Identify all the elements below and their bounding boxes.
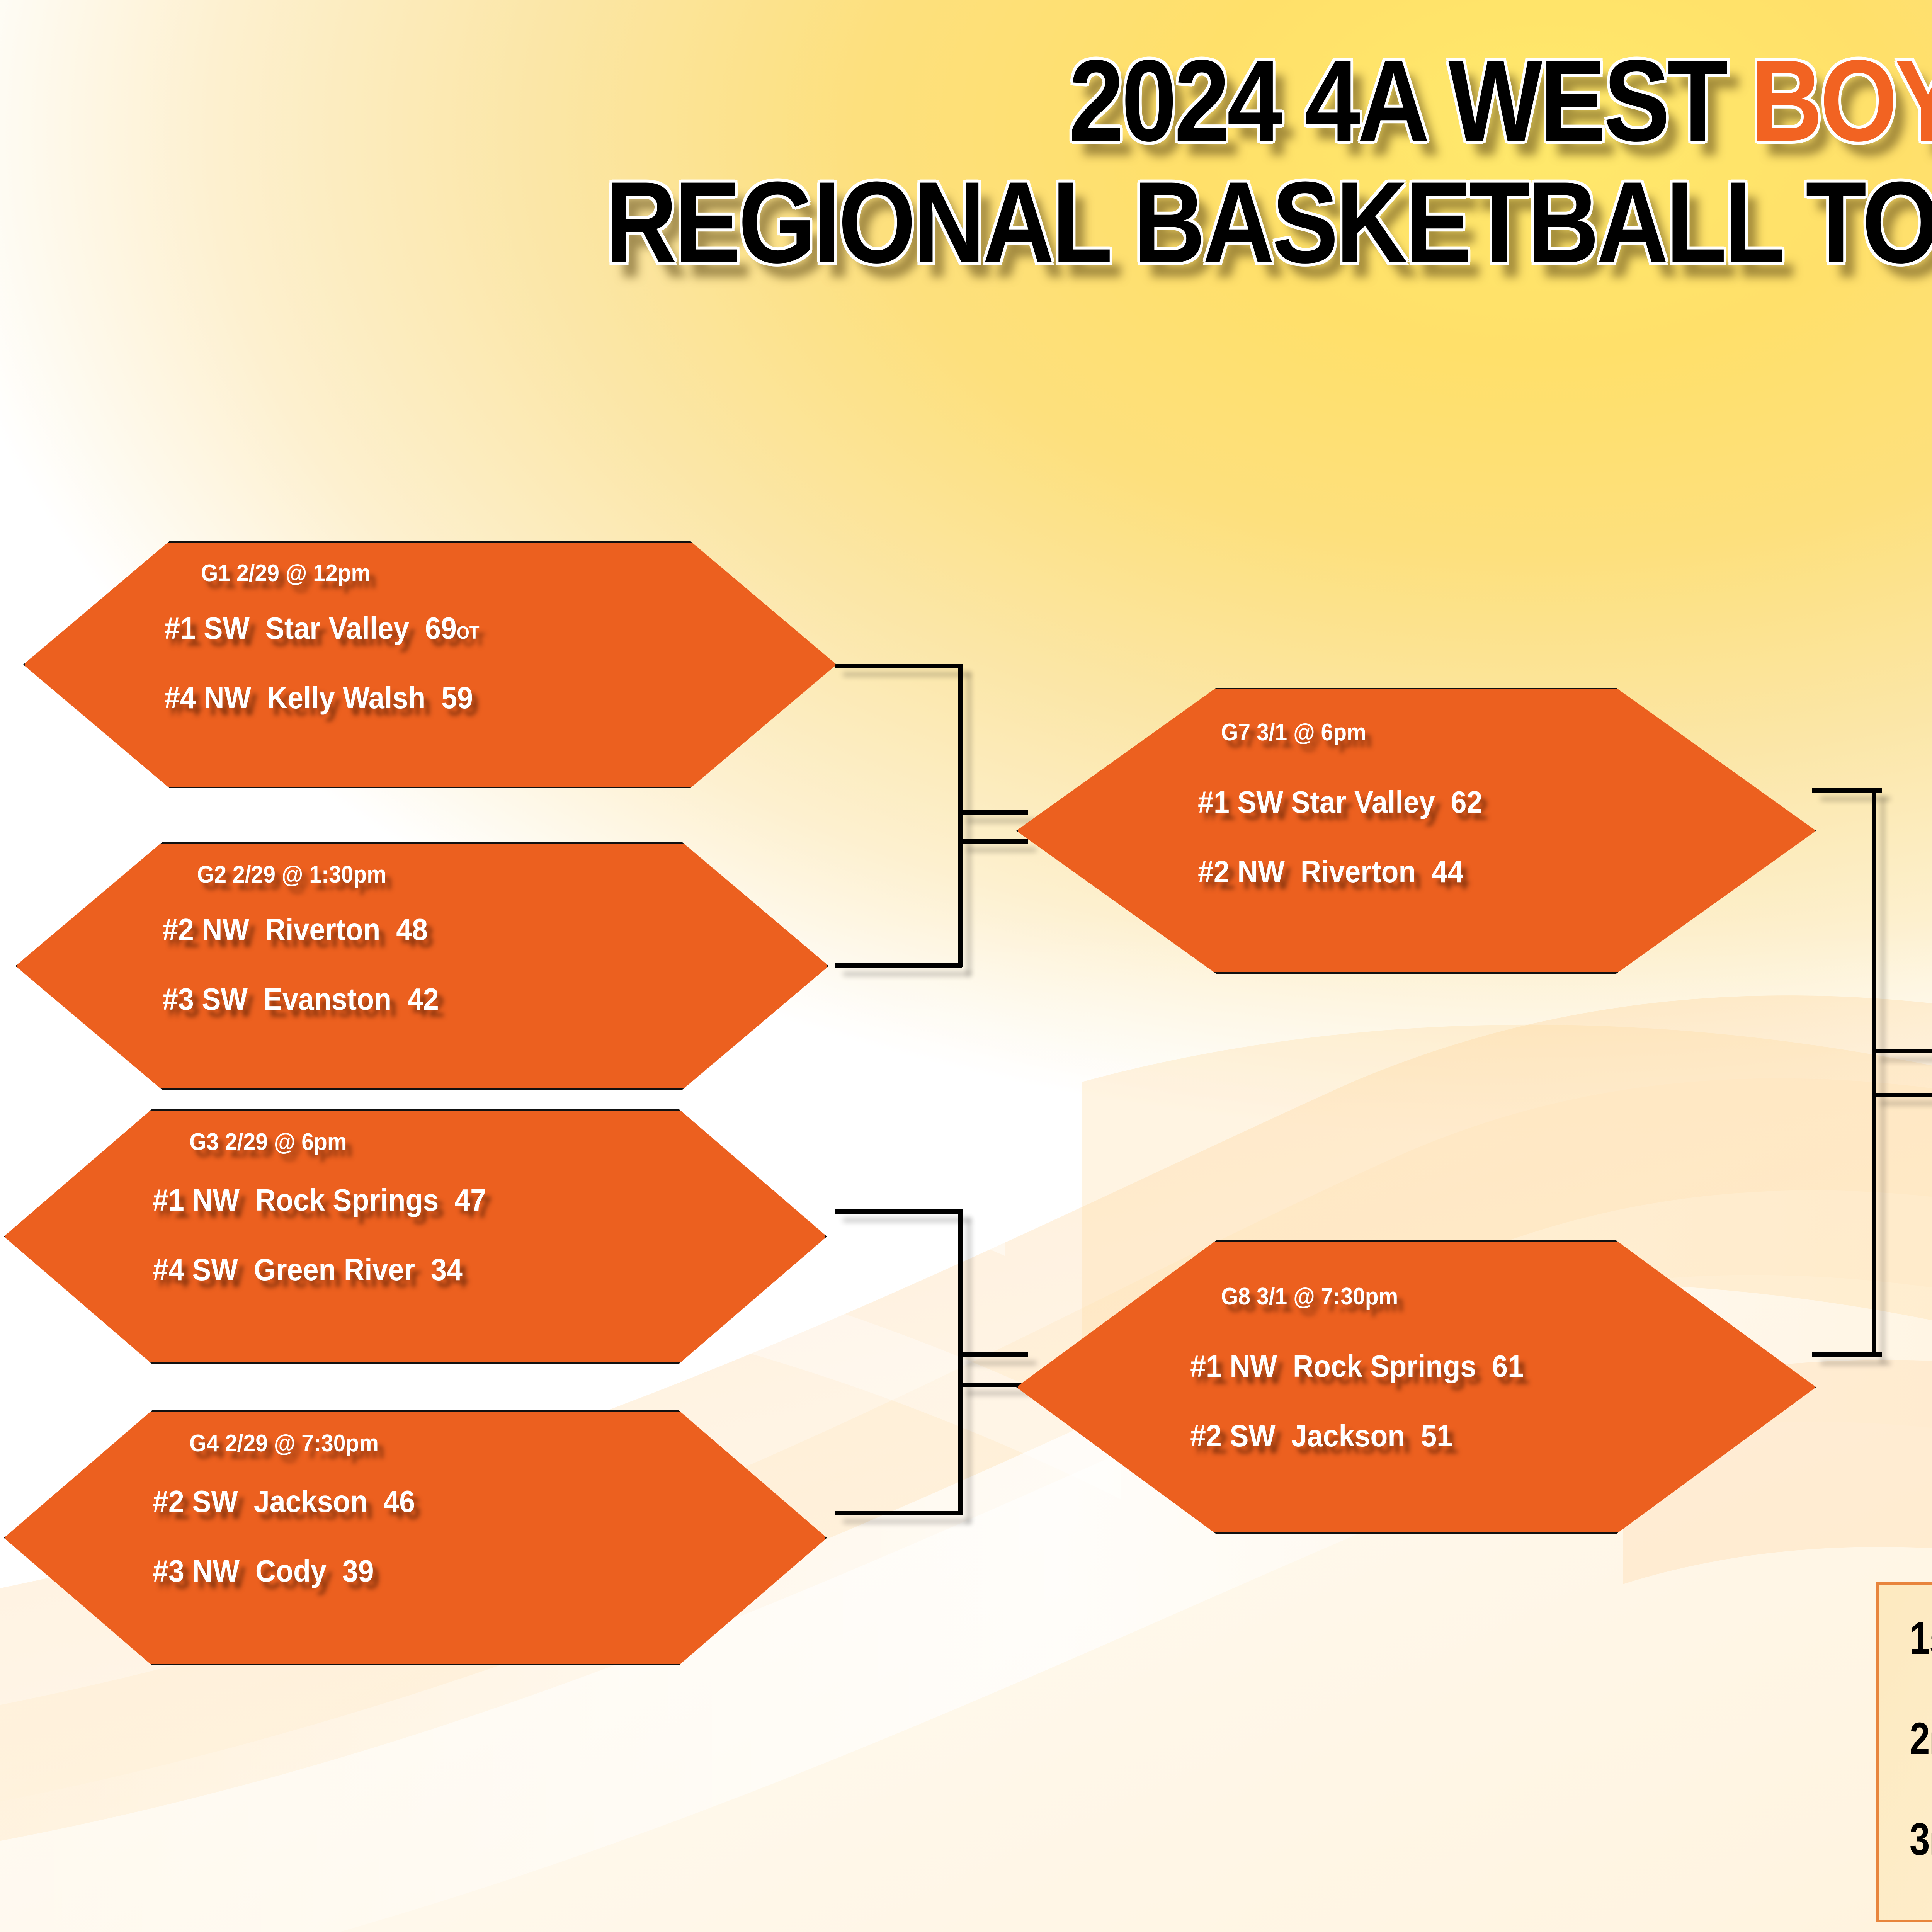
game-box-G7-shape (1016, 688, 1816, 974)
connector-g4-g8 (835, 1511, 962, 1515)
connector-g12-in-top (1872, 1049, 1932, 1053)
G4-t1-score: 46 (383, 1484, 415, 1519)
connector-g1-g7 (835, 664, 962, 668)
G8-t2-name: Jackson (1291, 1418, 1405, 1453)
place-2-number: 2 (1910, 1713, 1930, 1764)
G2-t2-name: Evanston (264, 982, 391, 1016)
G4-t2-seed: #3 NW (153, 1554, 240, 1588)
game-box-G4-team2: #3 NW Cody 39 (153, 1553, 374, 1589)
G1-t1-score-note: OT (457, 622, 480, 643)
game-box-G3-team1: #1 NW Rock Springs 47 (153, 1182, 486, 1218)
G8-t2-score: 51 (1421, 1418, 1452, 1453)
placements-panel: 1ST PLACE 2ND PLACE 3RD PLACE (1876, 1582, 1932, 1922)
G3-t1-seed: #1 NW (153, 1183, 240, 1217)
game-box-G3[interactable]: G3 2/29 @ 6pm #1 NW Rock Springs 47 #4 S… (4, 1109, 827, 1364)
game-box-G4-team1: #2 SW Jackson 46 (153, 1484, 415, 1519)
connector-g3-g8 (835, 1209, 962, 1214)
game-box-G1-header: G1 2/29 @ 12pm (201, 560, 371, 587)
game-box-G2-shape (15, 842, 829, 1090)
G7-t1-score: 62 (1451, 785, 1483, 819)
G1-t2-score: 59 (441, 680, 473, 715)
G8-t1-name: Rock Springs (1293, 1349, 1476, 1383)
G7-t2-score: 44 (1432, 854, 1463, 889)
game-box-G1-shape (23, 541, 837, 788)
game-box-G3-shape (4, 1109, 827, 1364)
game-box-G2[interactable]: G2 2/29 @ 1:30pm #2 NW Riverton 48 #3 SW… (15, 842, 829, 1090)
G1-t1-score: 69 (425, 611, 457, 645)
title-line-1: 2024 4A WEST BOYS (216, 43, 1932, 158)
connector-g3g4-vertical (958, 1209, 963, 1515)
G1-t1-name: Star Valley (265, 611, 409, 645)
page-title: 2024 4A WEST BOYS REGIONAL BASKETBALL TO… (0, 43, 1932, 286)
place-2-suffix: ND PLACE (1930, 1726, 1932, 1761)
G1-t2-name: Kelly Walsh (267, 680, 425, 715)
game-box-G3-team2: #4 SW Green River 34 (153, 1252, 463, 1287)
place-3-suffix: RD PLACE (1930, 1827, 1932, 1862)
G1-t1-seed: #1 SW (164, 611, 250, 645)
connector-g2-g7 (835, 963, 962, 968)
connector-g12-in-bottom (1872, 1093, 1932, 1097)
game-box-G4-shape (4, 1410, 827, 1665)
G3-t2-seed: #4 SW (153, 1252, 238, 1287)
G1-t2-seed: #4 NW (164, 680, 251, 715)
game-box-G1-team2: #4 NW Kelly Walsh 59 (164, 680, 473, 716)
game-box-G8[interactable]: G8 3/1 @ 7:30pm #1 NW Rock Springs 61 #2… (1016, 1240, 1816, 1534)
place-row-2: 2ND PLACE (1910, 1713, 1932, 1765)
G2-t2-seed: #3 SW (162, 982, 248, 1016)
G3-t1-name: Rock Springs (255, 1183, 439, 1217)
game-box-G4-header: G4 2/29 @ 7:30pm (189, 1430, 379, 1457)
game-box-G8-team1: #1 NW Rock Springs 61 (1190, 1349, 1524, 1384)
G2-t1-score: 48 (396, 912, 428, 947)
G2-t2-score: 42 (407, 982, 439, 1016)
place-1-suffix: ST PLACE (1930, 1626, 1932, 1661)
G7-t1-name: Star Valley (1291, 785, 1435, 819)
connector-g7g8-vertical (1872, 788, 1876, 1354)
G3-t2-name: Green River (254, 1252, 415, 1287)
G2-t1-name: Riverton (265, 912, 381, 947)
game-box-G7-header: G7 3/1 @ 6pm (1221, 719, 1366, 746)
G4-t1-name: Jackson (254, 1484, 368, 1519)
G8-t2-seed: #2 SW (1190, 1418, 1276, 1453)
G7-t2-name: Riverton (1301, 854, 1416, 889)
place-1-number: 1 (1910, 1613, 1930, 1664)
game-box-G8-shape (1016, 1240, 1816, 1534)
place-3-number: 3 (1910, 1814, 1930, 1865)
title-line-1-main: 2024 4A WEST (1069, 36, 1751, 165)
G2-t1-seed: #2 NW (162, 912, 249, 947)
game-box-G7-team1: #1 SW Star Valley 62 (1198, 784, 1482, 820)
title-line-1-accent: BOYS (1751, 36, 1932, 165)
G3-t1-score: 47 (454, 1183, 486, 1217)
G3-t2-score: 34 (431, 1252, 463, 1287)
G7-t2-seed: #2 NW (1198, 854, 1285, 889)
game-box-G2-team2: #3 SW Evanston 42 (162, 981, 439, 1017)
connector-g8-g12 (1812, 1352, 1882, 1357)
connector-g1g2-vertical (958, 664, 963, 967)
game-box-G1-team1: #1 SW Star Valley 69OT (164, 611, 480, 646)
game-box-G3-header: G3 2/29 @ 6pm (189, 1128, 347, 1156)
game-box-G7-team2: #2 NW Riverton 44 (1198, 854, 1463, 889)
place-row-3: 3RD PLACE (1910, 1813, 1932, 1866)
game-box-G2-header: G2 2/29 @ 1:30pm (197, 861, 386, 888)
G4-t2-name: Cody (255, 1554, 327, 1588)
game-box-G7[interactable]: G7 3/1 @ 6pm #1 SW Star Valley 62 #2 NW … (1016, 688, 1816, 974)
game-box-G1[interactable]: G1 2/29 @ 12pm #1 SW Star Valley 69OT #4… (23, 541, 837, 788)
connector-g7-g12 (1812, 788, 1882, 793)
game-box-G2-team1: #2 NW Riverton 48 (162, 912, 428, 947)
place-row-1: 1ST PLACE (1910, 1612, 1932, 1665)
title-line-2: REGIONAL BASKETBALL TOURNAMENT (216, 158, 1932, 286)
G8-t1-seed: #1 NW (1190, 1349, 1277, 1383)
G8-t1-score: 61 (1492, 1349, 1524, 1383)
G4-t2-score: 39 (342, 1554, 374, 1588)
game-box-G8-header: G8 3/1 @ 7:30pm (1221, 1283, 1398, 1310)
game-box-G4[interactable]: G4 2/29 @ 7:30pm #2 SW Jackson 46 #3 NW … (4, 1410, 827, 1665)
game-box-G8-team2: #2 SW Jackson 51 (1190, 1418, 1452, 1454)
G7-t1-seed: #1 SW (1198, 785, 1283, 819)
G4-t1-seed: #2 SW (153, 1484, 238, 1519)
